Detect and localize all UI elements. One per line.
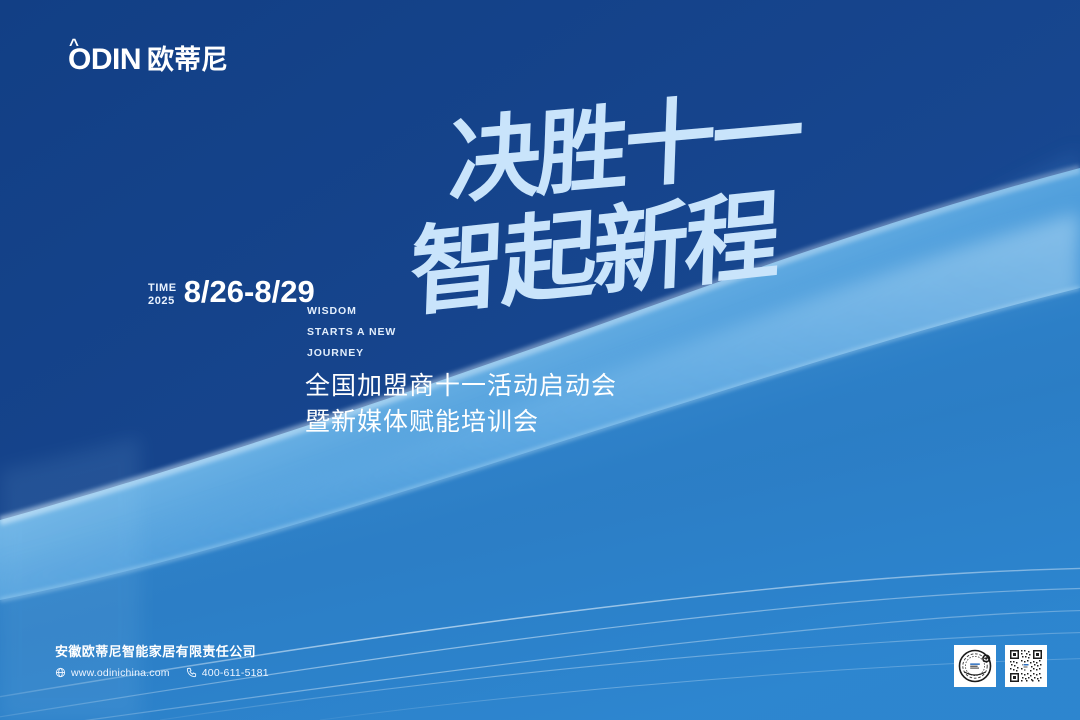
event-subtitle: 全国加盟商十一活动启动会 暨新媒体赋能培训会	[305, 368, 617, 439]
tagline-line-3: JOURNEY	[307, 343, 396, 364]
phone-text: 400-611-5181	[202, 667, 269, 679]
event-poster: ^ ODIN 欧蒂尼 决胜十一 智起新程 TIME 2025 8/26-8/29…	[0, 0, 1080, 720]
round-qr-code[interactable]	[954, 645, 996, 687]
logo-wordmark-text: ODIN	[68, 43, 141, 76]
website-item[interactable]: www.odinichina.com	[55, 667, 170, 679]
website-text: www.odinichina.com	[71, 667, 170, 679]
event-date-block: TIME 2025 8/26-8/29	[148, 276, 315, 308]
subtitle-line-2: 暨新媒体赋能培训会	[305, 404, 617, 440]
time-label-line2: 2025	[148, 295, 177, 308]
time-label: TIME 2025	[148, 276, 177, 308]
headline-calligraphy: 决胜十一 智起新程	[430, 112, 910, 342]
phone-icon	[186, 667, 197, 678]
english-tagline: WISDOM STARTS A NEW JOURNEY	[307, 301, 396, 364]
footer-info: 安徽欧蒂尼智能家居有限责任公司 www.odinichina.com	[55, 645, 269, 679]
phone-item[interactable]: 400-611-5181	[186, 667, 269, 679]
company-name: 安徽欧蒂尼智能家居有限责任公司	[55, 645, 269, 661]
qr-code-group	[954, 645, 1047, 687]
tagline-line-2: STARTS A NEW	[307, 322, 396, 343]
contact-row: www.odinichina.com 400-611-5181	[55, 667, 269, 679]
time-label-line1: TIME	[148, 282, 177, 295]
date-range: 8/26-8/29	[184, 276, 315, 307]
tagline-line-1: WISDOM	[307, 301, 396, 322]
logo-circumflex-icon: ^	[69, 36, 78, 53]
subtitle-line-1: 全国加盟商十一活动启动会	[305, 368, 617, 404]
logo-cn-name: 欧蒂尼	[147, 47, 228, 74]
logo-wordmark: ^ ODIN	[68, 45, 141, 75]
square-qr-code[interactable]	[1005, 645, 1047, 687]
globe-icon	[55, 667, 66, 678]
brand-logo: ^ ODIN 欧蒂尼	[68, 45, 228, 75]
